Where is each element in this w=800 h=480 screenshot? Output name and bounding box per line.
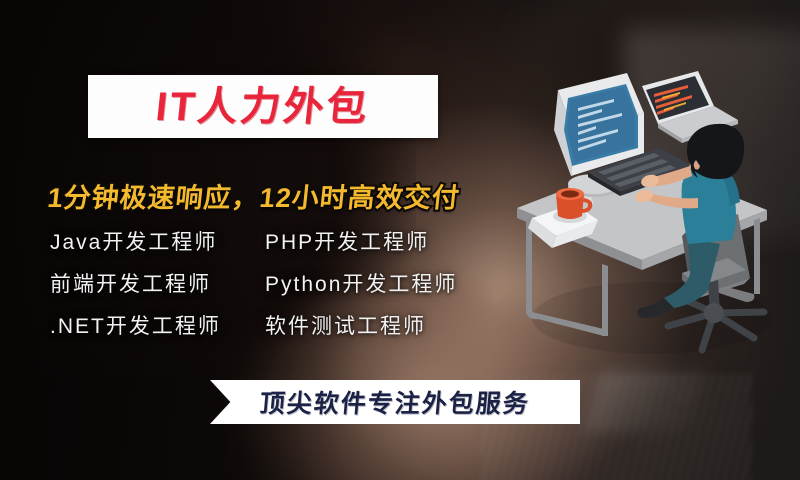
- service-item-qa: 软件测试工程师: [265, 310, 490, 340]
- service-item-frontend: 前端开发工程师: [50, 268, 265, 298]
- bottom-ribbon: 顶尖软件专注外包服务: [210, 380, 580, 424]
- service-item-java: Java开发工程师: [50, 226, 265, 256]
- subtitle-tagline: 1分钟极速响应，12小时高效交付: [46, 176, 462, 215]
- ribbon-inner: 顶尖软件专注外包服务: [210, 380, 580, 424]
- ribbon-slogan: 顶尖软件专注外包服务: [258, 384, 531, 420]
- service-item-php: PHP开发工程师: [265, 226, 490, 256]
- service-item-dotnet: .NET开发工程师: [50, 310, 265, 340]
- developer-illustration: [492, 68, 792, 358]
- service-row: 前端开发工程师 Python开发工程师: [50, 262, 490, 304]
- service-row: .NET开发工程师 软件测试工程师: [50, 304, 490, 346]
- service-row: Java开发工程师 PHP开发工程师: [50, 220, 490, 262]
- service-list: Java开发工程师 PHP开发工程师 前端开发工程师 Python开发工程师 .…: [50, 220, 490, 346]
- service-item-python: Python开发工程师: [265, 268, 490, 298]
- banner-advertisement: IT人力外包 1分钟极速响应，12小时高效交付 Java开发工程师 PHP开发工…: [0, 0, 800, 480]
- page-title: IT人力外包: [154, 87, 372, 127]
- title-banner: IT人力外包: [88, 75, 438, 138]
